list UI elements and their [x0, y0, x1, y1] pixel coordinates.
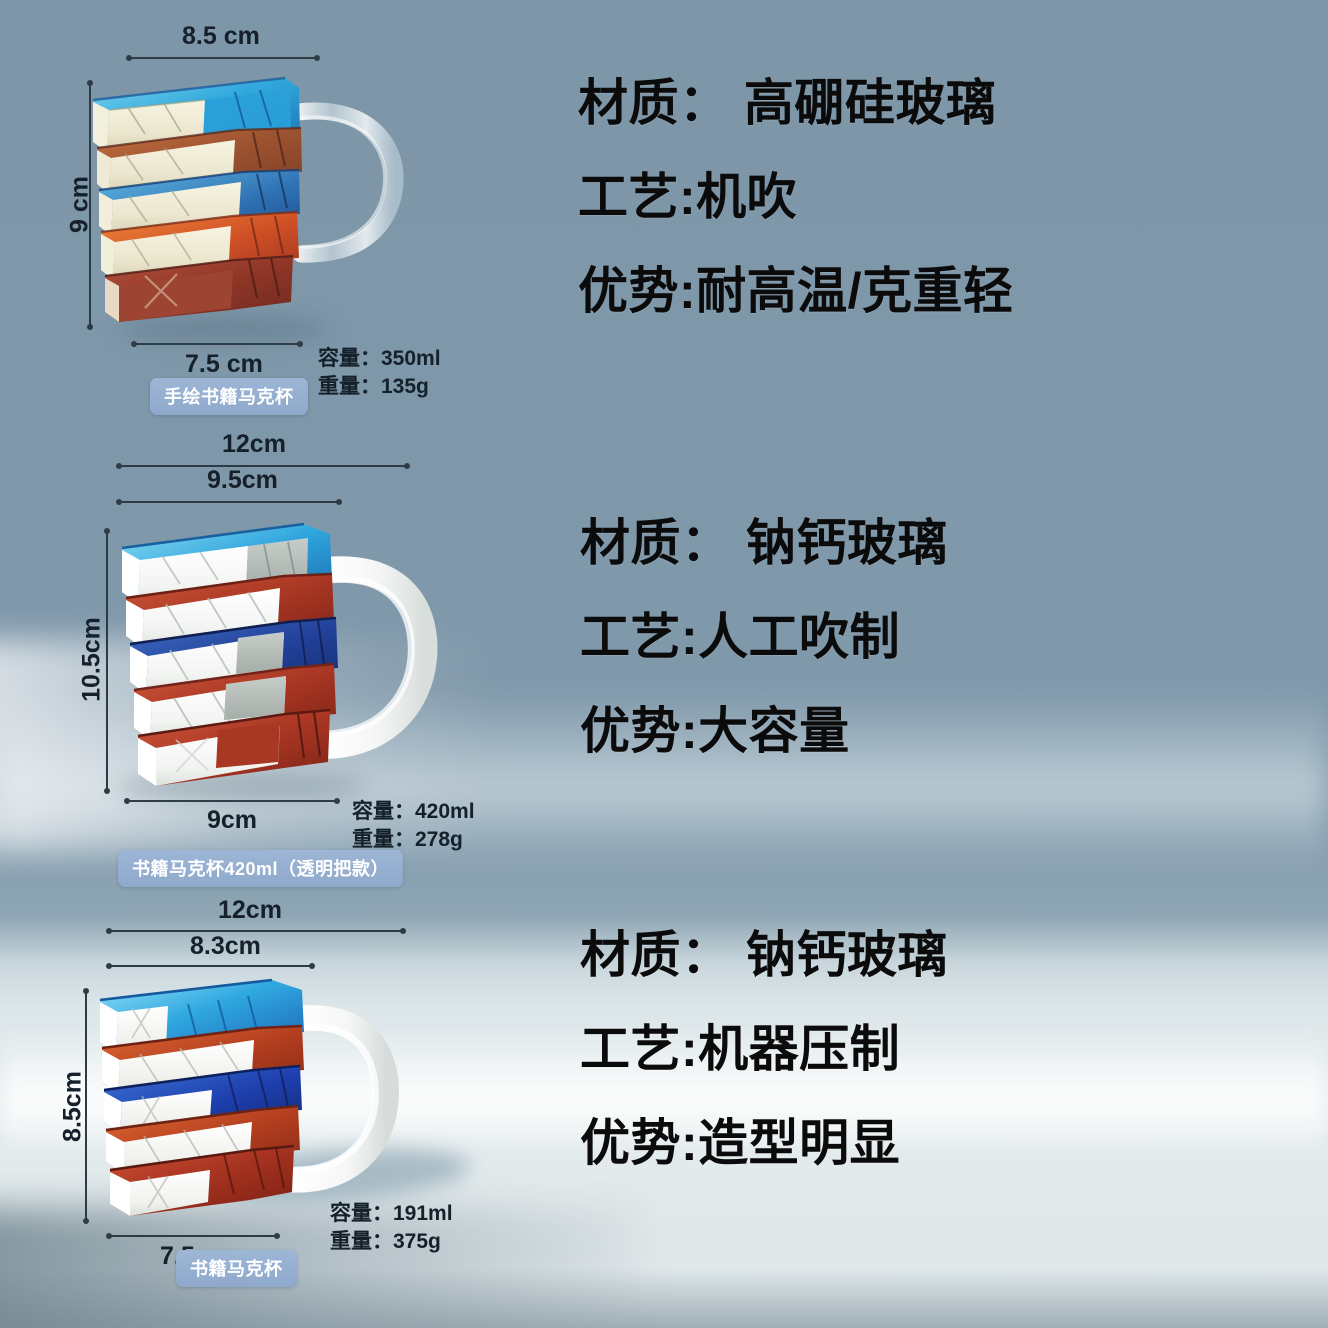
spec-block-1: 材质： 高硼硅玻璃 工艺:机吹 优势:耐高温/克重轻 — [578, 78, 1014, 316]
weight-label-1: 重量：135g — [318, 373, 441, 401]
spec-advantage-1: 优势:耐高温/克重轻 — [578, 266, 1014, 316]
capacity-label-2: 容量：420ml — [352, 798, 475, 826]
product-infographic: 8.5 cm 9 cm 7.5 cm — [0, 0, 1328, 1328]
dimension-line-bottom-width-3 — [108, 1235, 278, 1237]
weight-label-3: 重量：375g — [330, 1228, 453, 1256]
spec-process-2: 工艺:人工吹制 — [580, 612, 948, 662]
product-row-2: 12cm 9.5cm 10.5cm 9cm — [0, 440, 1328, 902]
capacity-weight-1: 容量：350ml 重量：135g — [318, 345, 441, 400]
dimension-line-top-width-1 — [128, 57, 318, 59]
mug-image-1 — [85, 70, 415, 340]
spec-material-3: 材质： 钠钙玻璃 — [580, 930, 948, 980]
dimension-line-top-width-3 — [108, 965, 313, 967]
product-row-3: 12cm 8.3cm 8.5cm 7.5cm — [0, 902, 1328, 1328]
dimension-label-top-width-1: 8.5 cm — [182, 22, 260, 51]
dimension-line-top-width-2 — [118, 501, 340, 503]
dimension-label-height-3: 8.5cm — [59, 1057, 88, 1157]
spec-advantage-2: 优势:大容量 — [580, 706, 948, 756]
dimension-label-bottom-width-1: 7.5 cm — [185, 350, 263, 379]
spec-process-1: 工艺:机吹 — [578, 172, 1014, 222]
spec-block-2: 材质： 钠钙玻璃 工艺:人工吹制 优势:大容量 — [580, 518, 948, 756]
product-badge-2[interactable]: 书籍马克杯420ml（透明把款） — [118, 850, 403, 887]
spec-advantage-3: 优势:造型明显 — [580, 1118, 948, 1168]
capacity-label-1: 容量：350ml — [318, 345, 441, 373]
spec-material-1: 材质： 高硼硅玻璃 — [578, 78, 1014, 128]
product-row-1: 8.5 cm 9 cm 7.5 cm — [0, 0, 1328, 440]
dimension-label-height-2: 10.5cm — [78, 605, 107, 715]
dimension-label-bottom-width-2: 9cm — [207, 806, 257, 835]
spec-process-3: 工艺:机器压制 — [580, 1024, 948, 1074]
spec-block-3: 材质： 钠钙玻璃 工艺:机器压制 优势:造型明显 — [580, 930, 948, 1168]
product-badge-3[interactable]: 书籍马克杯 — [176, 1250, 297, 1287]
dimension-label-top-width-3: 8.3cm — [190, 932, 261, 961]
dimension-line-bottom-width-1 — [133, 343, 301, 345]
capacity-weight-3: 容量：191ml 重量：375g — [330, 1200, 453, 1255]
product-badge-1[interactable]: 手绘书籍马克杯 — [150, 378, 308, 415]
dimension-label-outer-width-3: 12cm — [218, 896, 282, 925]
dimension-label-top-width-2: 9.5cm — [207, 466, 278, 495]
mug-image-2 — [108, 518, 428, 808]
dimension-label-outer-width-2: 12cm — [222, 430, 286, 459]
capacity-weight-2: 容量：420ml 重量：278g — [352, 798, 475, 853]
mug-image-3 — [92, 974, 392, 1234]
spec-material-2: 材质： 钠钙玻璃 — [580, 518, 948, 568]
capacity-label-3: 容量：191ml — [330, 1200, 453, 1228]
